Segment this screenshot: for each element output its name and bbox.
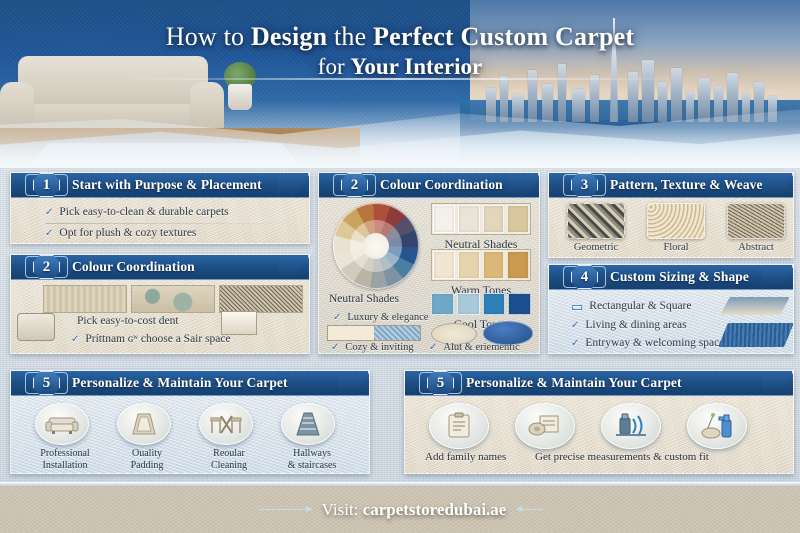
title-part-the: the bbox=[327, 22, 373, 51]
list-item-label: Rectangular & Square bbox=[589, 298, 691, 316]
list-item-label: Pick easy-to-cost dent bbox=[77, 313, 179, 331]
swatch bbox=[507, 205, 529, 233]
abstract-tile bbox=[727, 203, 785, 239]
list-item-label: Pick easy-to-clean & durable carpets bbox=[59, 204, 228, 222]
visit-url: Visit: carpetstoredubai.ae bbox=[322, 500, 507, 520]
divider bbox=[45, 223, 299, 224]
list-item-label: Alut & eriementic bbox=[443, 340, 519, 354]
title-part-for: for bbox=[318, 54, 351, 79]
card-colour-coordination-left[interactable]: 2 Colour Coordination Pick easy-to-cost … bbox=[10, 254, 310, 354]
check-icon: ✓ bbox=[45, 205, 53, 221]
swatch bbox=[483, 293, 506, 315]
card-maintain-left-header: 5 Personalize & Maintain Your Carpet bbox=[11, 371, 369, 396]
card-sizing-title: Custom Sizing & Shape bbox=[610, 269, 749, 285]
step-number-badge: 1 bbox=[33, 173, 60, 197]
card-colour-left-title: Colour Coordination bbox=[72, 259, 195, 275]
card-purpose-title: Start with Purpose & Placement bbox=[72, 177, 262, 193]
speckle-swatch bbox=[219, 285, 303, 313]
sofa-icon bbox=[17, 313, 55, 341]
swatch bbox=[374, 326, 420, 340]
pattern-tile-abstract[interactable]: Abstract bbox=[727, 203, 785, 253]
icon-regular-cleaning[interactable]: Reoular Cleaning bbox=[199, 403, 259, 471]
potted-plant-pot bbox=[228, 84, 252, 110]
icon-hallways-staircases[interactable]: Hallways & staircases bbox=[281, 403, 343, 471]
floral-tile bbox=[647, 203, 705, 239]
swatch bbox=[458, 251, 480, 279]
swatch bbox=[433, 251, 455, 279]
card-purpose-body: ✓ Pick easy-to-clean & durable carpets ✓… bbox=[11, 198, 309, 244]
check-icon: ✓ bbox=[571, 318, 579, 334]
list-item-label: Príttnam ɢʷ choose a Sair space bbox=[85, 331, 230, 349]
title-part-design: Design bbox=[251, 22, 327, 51]
arrow-left-icon bbox=[258, 509, 312, 510]
caption-precise-measurements: Get precise measurements & custom fit bbox=[535, 451, 709, 463]
title-divider bbox=[120, 78, 680, 80]
tile-caption: Floral bbox=[647, 242, 705, 253]
icon-caption-line1: Hallways bbox=[293, 448, 331, 459]
pattern-tile-geometric[interactable]: Geometric bbox=[567, 203, 625, 253]
swatch bbox=[458, 205, 480, 233]
list-item-label: Opt for plush & cozy textures bbox=[59, 225, 196, 243]
card-custom-sizing-shape[interactable]: 4 Custom Sizing & Shape ▭ Rectangular & … bbox=[548, 264, 794, 354]
icon-caption-line1: Ouality bbox=[132, 448, 162, 459]
list-item: ✓ Pick easy-to-clean & durable carpets bbox=[45, 204, 299, 222]
wheel-caption: Neutral Shades bbox=[329, 293, 421, 305]
card-colour-center-header: 2 Colour Coordination bbox=[319, 173, 539, 198]
step-number-badge: 2 bbox=[33, 255, 60, 279]
colour-wheel-hub bbox=[363, 233, 389, 259]
card-sizing-header: 4 Custom Sizing & Shape bbox=[549, 265, 793, 290]
stacked-rug-icon bbox=[720, 297, 790, 315]
swatch bbox=[483, 205, 505, 233]
step-number-badge: 5 bbox=[33, 371, 60, 395]
geometric-tile bbox=[567, 203, 625, 239]
card-purpose-header: 1 Start with Purpose & Placement bbox=[11, 173, 309, 198]
swatch bbox=[507, 251, 529, 279]
card-pattern-texture-weave[interactable]: 3 Pattern, Texture & Weave Geometric Flo… bbox=[548, 172, 794, 258]
card-maintain-right-title: Personalize & Maintain Your Carpet bbox=[466, 375, 682, 391]
cards-board: 1 Start with Purpose & Placement ✓ Pick … bbox=[0, 168, 800, 486]
cleaning-spray-icon[interactable] bbox=[687, 403, 747, 449]
stone-swatch bbox=[131, 285, 215, 313]
icon-caption-line2: & staircases bbox=[288, 460, 337, 471]
title-part-howto: How to bbox=[166, 22, 251, 51]
title-part-perfect-custom-carpet: Perfect Custom Carpet bbox=[373, 22, 634, 51]
visit-domain[interactable]: carpetstoredubai.ae bbox=[363, 500, 507, 519]
icon-caption-line2: Installation bbox=[43, 460, 88, 471]
maintain-right-icon-row bbox=[429, 403, 747, 449]
carpet-swatch-strip bbox=[43, 285, 303, 313]
icon-caption-line1: Reoular bbox=[213, 448, 245, 459]
page-title: How to Design the Perfect Custom Carpet … bbox=[0, 22, 800, 82]
mini-swatch-pair bbox=[327, 325, 421, 341]
card-personalize-maintain-left[interactable]: 5 Personalize & Maintain Your Carpet bbox=[10, 370, 370, 474]
icon-caption-line2: Padding bbox=[131, 460, 164, 471]
check-icon: ✓ bbox=[71, 332, 79, 348]
palette-warm-tones: Warm Tones bbox=[431, 249, 531, 298]
list-item: ✓ Luxury & elegance bbox=[333, 310, 428, 326]
card-colour-coordination-center[interactable]: 2 Colour Coordination Neutral Shades Neu… bbox=[318, 172, 540, 354]
rectangle-icon: ▭ bbox=[571, 297, 583, 317]
rug-padding-icon bbox=[117, 403, 171, 445]
swatch bbox=[328, 326, 374, 340]
check-icon: ✓ bbox=[429, 340, 437, 354]
stairs-runner-icon bbox=[281, 403, 335, 445]
swatch bbox=[483, 251, 505, 279]
check-icon: ✓ bbox=[45, 226, 53, 242]
arrow-right-icon bbox=[516, 509, 542, 510]
icon-professional-installation[interactable]: Professional Installation bbox=[35, 403, 95, 471]
list-item-label: Living & dining areas bbox=[585, 317, 686, 335]
icon-caption-line2: Cleaning bbox=[211, 460, 247, 471]
card-pattern-header: 3 Pattern, Texture & Weave bbox=[549, 173, 793, 198]
list-item: ✓ Opt for plush & cozy textures bbox=[45, 225, 299, 243]
pattern-tile-floral[interactable]: Floral bbox=[647, 203, 705, 253]
check-icon: ✓ bbox=[331, 340, 339, 354]
laser-measure-icon[interactable] bbox=[601, 403, 661, 449]
step-number-badge: 3 bbox=[571, 173, 598, 197]
tile-caption: Abstract bbox=[727, 242, 785, 253]
infographic-root: How to Design the Perfect Custom Carpet … bbox=[0, 0, 800, 533]
weave-swatch bbox=[43, 285, 127, 313]
card-colour-left-body: Pick easy-to-cost dent ✓ Príttnam ɢʷ cho… bbox=[71, 313, 231, 349]
fabric-sample-icon bbox=[221, 311, 257, 335]
step-number-badge: 2 bbox=[341, 173, 368, 197]
colour-wheel[interactable] bbox=[333, 203, 419, 289]
icon-caption-line1: Professional bbox=[40, 448, 89, 459]
list-item-label: Entryway & welcoming spaces bbox=[585, 335, 728, 353]
check-icon: ✓ bbox=[571, 336, 579, 352]
card-colour-left-header: 2 Colour Coordination bbox=[11, 255, 309, 280]
list-item-label: Luxury & elegance bbox=[347, 310, 428, 326]
card-personalize-maintain-right[interactable]: 5 Personalize & Maintain Your Carpet bbox=[404, 370, 794, 474]
card-pattern-title: Pattern, Texture & Weave bbox=[610, 177, 763, 193]
caption-add-family-names: Add family names bbox=[425, 451, 506, 463]
list-item: ✓ Alut & eriementic bbox=[429, 340, 520, 354]
card-colour-center-title: Colour Coordination bbox=[380, 177, 503, 193]
card-maintain-left-title: Personalize & Maintain Your Carpet bbox=[72, 375, 288, 391]
title-part-your-interior: Your Interior bbox=[350, 54, 482, 79]
footer-bar: Visit: carpetstoredubai.ae bbox=[0, 486, 800, 533]
list-item: ✓ Cozy & inviting bbox=[331, 340, 414, 354]
rolled-carpet-icon[interactable] bbox=[515, 403, 575, 449]
check-icon: ✓ bbox=[333, 310, 341, 326]
pattern-tiles: Geometric Floral Abstract bbox=[567, 203, 785, 253]
icon-quality-padding[interactable]: Ouality Padding bbox=[117, 403, 177, 471]
swatch bbox=[433, 205, 455, 233]
card-purpose-placement[interactable]: 1 Start with Purpose & Placement ✓ Pick … bbox=[10, 172, 310, 244]
chairs-cleaning-icon bbox=[199, 403, 253, 445]
maintain-icon-row: Professional Installation Ouality Paddin… bbox=[35, 403, 343, 471]
tile-caption: Geometric bbox=[567, 242, 625, 253]
swatch bbox=[508, 293, 531, 315]
hero-banner: How to Design the Perfect Custom Carpet … bbox=[0, 0, 800, 168]
swatch bbox=[431, 293, 454, 315]
visit-prefix: Visit: bbox=[322, 500, 363, 519]
clipboard-icon[interactable] bbox=[429, 403, 489, 449]
list-item-label: Cozy & inviting bbox=[345, 340, 413, 354]
step-number-badge: 4 bbox=[571, 265, 598, 289]
card-maintain-right-header: 5 Personalize & Maintain Your Carpet bbox=[405, 371, 793, 396]
list-item: Pick easy-to-cost dent bbox=[71, 313, 231, 331]
swatch bbox=[457, 293, 480, 315]
step-number-badge: 5 bbox=[427, 371, 454, 395]
list-item: ✓ Príttnam ɢʷ choose a Sair space bbox=[71, 331, 231, 349]
sofa-icon bbox=[35, 403, 89, 445]
palette-neutral-shades: Neutral Shades bbox=[431, 203, 531, 252]
blue-rug-icon bbox=[718, 323, 794, 347]
